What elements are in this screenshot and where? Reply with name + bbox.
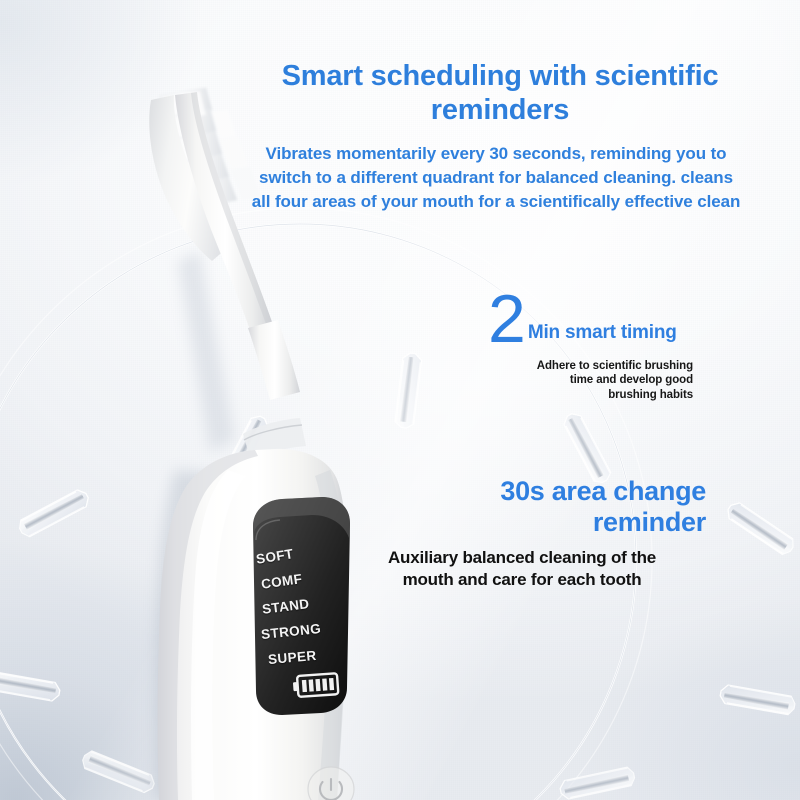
subheadline-line-2: switch to a different quadrant for balan…	[206, 166, 786, 190]
area-change-description: Auxiliary balanced cleaning of the mouth…	[338, 547, 706, 591]
product-feature-image: SOFT COMF STAND STRONG SUPER Smart sched…	[0, 0, 800, 800]
timing-description-line-1: Adhere to scientific brushing	[488, 359, 693, 374]
timing-description: Adhere to scientific brushing time and d…	[488, 359, 693, 403]
area-change-feature-block: 30s area change reminder Auxiliary balan…	[338, 476, 706, 591]
page-title: Smart scheduling with scientific reminde…	[230, 60, 770, 128]
subheadline-line-3: all four areas of your mouth for a scien…	[206, 190, 786, 214]
area-change-description-line-1: Auxiliary balanced cleaning of the	[338, 547, 706, 569]
area-change-title-line-2: reminder	[338, 507, 706, 538]
headline-line-1: Smart scheduling with scientific	[230, 60, 770, 94]
timing-description-line-2: time and develop good	[488, 373, 693, 388]
timing-headline-row: 2 Min smart timing	[488, 292, 768, 348]
timing-unit-label: Min smart timing	[528, 322, 677, 348]
headline-line-2: reminders	[230, 94, 770, 128]
page-subtitle: Vibrates momentarily every 30 seconds, r…	[206, 142, 786, 214]
area-change-title-line-1: 30s area change	[338, 476, 706, 507]
timing-number: 2	[488, 292, 526, 348]
area-change-title: 30s area change reminder	[338, 476, 706, 538]
timing-description-line-3: brushing habits	[488, 388, 693, 403]
subheadline-line-1: Vibrates momentarily every 30 seconds, r…	[206, 142, 786, 166]
timing-feature-block: 2 Min smart timing Adhere to scientific …	[488, 292, 768, 403]
area-change-description-line-2: mouth and care for each tooth	[338, 569, 706, 591]
